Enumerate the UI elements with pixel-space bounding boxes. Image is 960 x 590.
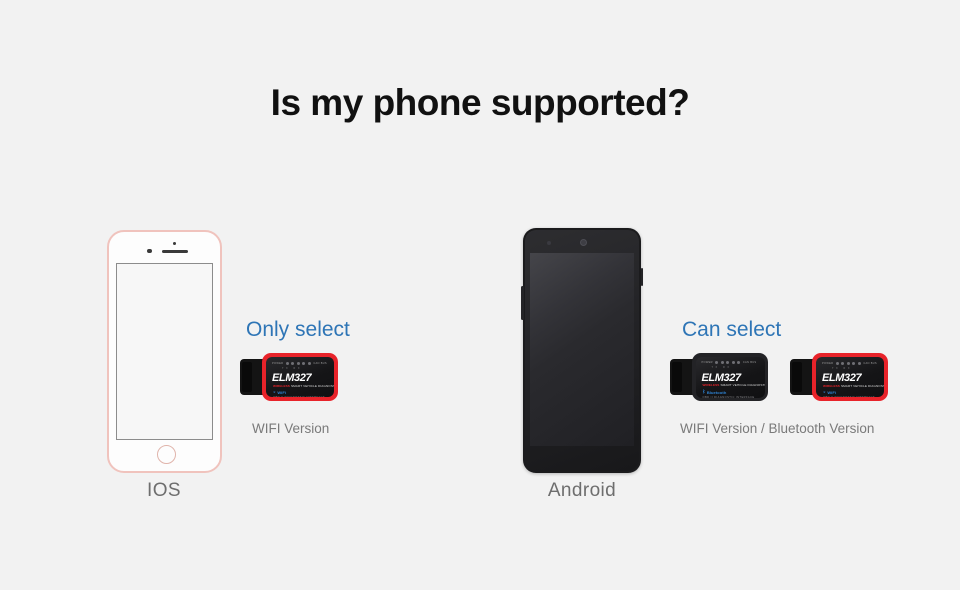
wifi-icon: ◒ WiFi: [823, 390, 836, 395]
connectivity-label: WiFi: [277, 390, 286, 395]
led-indicator: [836, 362, 839, 365]
led-indicator: [737, 361, 740, 364]
led-sublabel: TX RX: [282, 367, 302, 370]
dongle-body-red-frame: POWER CAN BUS TX RX ELM327 WIRELESS SMAR…: [262, 353, 338, 401]
iphone-front-camera-icon: [147, 249, 152, 254]
tagline-white: SMART VEHICLE DIAGNOSTIC: [291, 384, 334, 388]
android-sensor-icon: [547, 241, 551, 245]
dongle-brand: ELM327: [822, 372, 861, 384]
led-indicator: [841, 362, 844, 365]
dongle-body-black-frame: POWER CAN BUS TX RX ELM327 WIRELESS SMAR…: [692, 353, 768, 401]
wifi-glyph: ◒: [823, 390, 826, 395]
device-label-ios: IOS: [104, 480, 224, 502]
tagline-red: WIRELESS: [703, 383, 720, 387]
select-label-android: Can select: [682, 318, 781, 342]
version-caption-android: WIFI Version / Bluetooth Version: [680, 421, 874, 436]
tagline-white: SMART VEHICLE DIAGNOSTIC: [841, 384, 884, 388]
select-label-ios: Only select: [246, 318, 350, 342]
led-label-power: POWER: [272, 362, 283, 365]
promo-banner: Is my phone supported? IOS Only select P…: [0, 0, 960, 590]
tagline-white: SMART VEHICLE DIAGNOSTIC: [720, 383, 764, 387]
led-indicator: [852, 362, 855, 365]
led-label-canbus: CAN BUS: [743, 361, 757, 364]
led-label-canbus: CAN BUS: [863, 362, 877, 365]
tagline-red: WIRELESS: [823, 384, 840, 388]
led-indicator: [726, 361, 729, 364]
iphone-volume-up-button: [107, 296, 109, 312]
led-indicator: [291, 362, 294, 365]
led-indicator: [297, 362, 300, 365]
android-illustration: [523, 228, 641, 473]
version-caption-ios: WIFI Version: [252, 421, 329, 436]
device-label-android: Android: [522, 480, 642, 502]
wifi-icon: ◒ WiFi: [273, 390, 286, 395]
android-body: [525, 230, 639, 471]
connectivity-label: Bluetooth: [707, 390, 727, 395]
elm327-dongle-wifi: POWER CAN BUS TX RX ELM327 WIRELESS SMAR…: [240, 353, 338, 401]
led-label-canbus: CAN BUS: [313, 362, 327, 365]
dongle-tagline: WIRELESS SMART VEHICLE DIAGNOSTIC: [703, 383, 765, 387]
dongle-body-red-frame: POWER CAN BUS TX RX ELM327 WIRELESS SMAR…: [812, 353, 888, 401]
tagline-red: WIRELESS: [273, 384, 290, 388]
dongle-face: POWER CAN BUS TX RX ELM327 WIRELESS SMAR…: [266, 357, 334, 397]
led-indicator: [721, 361, 724, 364]
led-indicator: [302, 362, 305, 365]
iphone-power-button: [220, 290, 222, 312]
iphone-volume-down-button: [107, 318, 109, 334]
android-front-camera-icon: [580, 239, 587, 246]
led-sublabel: TX RX: [712, 366, 732, 369]
dongle-footline: OBD II DIAGNOSTIC INTERFACE: [703, 396, 755, 398]
wifi-glyph: ◒: [273, 390, 276, 395]
dongle-tagline: WIRELESS SMART VEHICLE DIAGNOSTIC: [273, 384, 334, 388]
elm327-dongle-wifi-2: POWER CAN BUS TX RX ELM327 WIRELESS SMAR…: [790, 353, 888, 401]
iphone-earpiece-speaker: [162, 250, 188, 253]
dongle-face: POWER CAN BUS TX RX ELM327 WIRELESS SMAR…: [816, 357, 884, 397]
iphone-mute-switch: [107, 278, 109, 288]
dongle-brand: ELM327: [702, 372, 741, 384]
android-screen: [530, 253, 634, 446]
led-indicator: [847, 362, 850, 365]
led-indicator: [858, 362, 861, 365]
android-power-button: [641, 268, 644, 286]
dongle-led-row: POWER CAN BUS: [822, 361, 879, 365]
elm327-dongle-bluetooth: POWER CAN BUS TX RX ELM327 WIRELESS SMAR…: [670, 353, 768, 401]
dongle-tagline: WIRELESS SMART VEHICLE DIAGNOSTIC: [823, 384, 884, 388]
android-volume-button: [521, 286, 524, 320]
bluetooth-icon: ᛒ Bluetooth: [703, 390, 727, 395]
led-label-power: POWER: [822, 362, 833, 365]
led-indicator: [286, 362, 289, 365]
led-indicator: [732, 361, 735, 364]
iphone-home-button: [157, 445, 176, 464]
iphone-illustration: [107, 230, 222, 473]
dongle-footline: OBD II DIAGNOSTIC INTERFACE: [823, 396, 875, 397]
led-indicator: [308, 362, 311, 365]
connectivity-label: WiFi: [827, 390, 836, 395]
dongle-led-row: POWER CAN BUS: [702, 361, 760, 365]
bluetooth-glyph: ᛒ: [703, 390, 706, 395]
android-section: Android Can select POWER CAN BUS TX RX: [470, 210, 940, 530]
led-indicator: [715, 361, 718, 364]
page-title: Is my phone supported?: [0, 82, 960, 124]
led-sublabel: TX RX: [832, 367, 852, 370]
iphone-screen: [116, 263, 213, 440]
dongle-brand: ELM327: [272, 372, 311, 384]
dongle-footline: OBD II DIAGNOSTIC INTERFACE: [273, 396, 325, 397]
ios-section: IOS Only select POWER CAN BUS TX RX: [60, 210, 440, 530]
dongle-face: POWER CAN BUS TX RX ELM327 WIRELESS SMAR…: [696, 357, 765, 398]
led-label-power: POWER: [702, 361, 713, 364]
dongle-led-row: POWER CAN BUS: [272, 361, 329, 365]
iphone-sensor-icon: [173, 242, 176, 245]
